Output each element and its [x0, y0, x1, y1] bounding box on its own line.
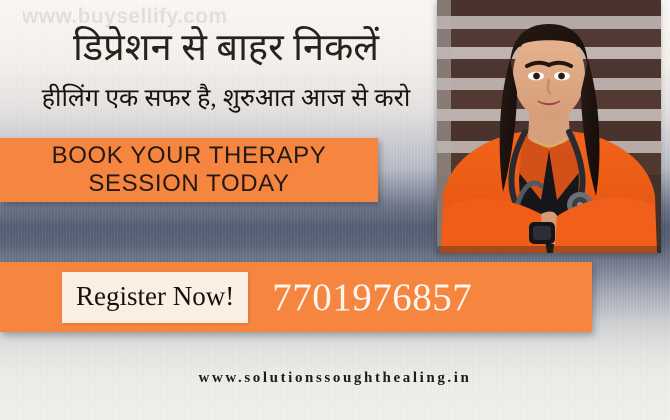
doctor-photo [437, 0, 661, 253]
register-now-button[interactable]: Register Now! [62, 272, 248, 323]
watermark-text: www.buysellify.com [22, 5, 228, 29]
page-title: डिप्रेशन से बाहर निकलें [14, 28, 438, 69]
cta-banner-text: BOOK YOUR THERAPY SESSION TODAY [52, 142, 327, 199]
doctor-photo-illustration [437, 0, 661, 253]
website-url[interactable]: www.solutionssoughthealing.in [0, 370, 670, 387]
advertisement-banner: www.buysellify.com डिप्रेशन से बाहर निकल… [0, 0, 670, 420]
cta-banner-box: BOOK YOUR THERAPY SESSION TODAY [0, 138, 378, 202]
phone-number[interactable]: 7701976857 [272, 278, 472, 317]
subheadline-text: हीलिंग एक सफर है, शुरुआत आज से करो [14, 84, 438, 115]
register-bar: Register Now! 7701976857 [0, 262, 592, 332]
